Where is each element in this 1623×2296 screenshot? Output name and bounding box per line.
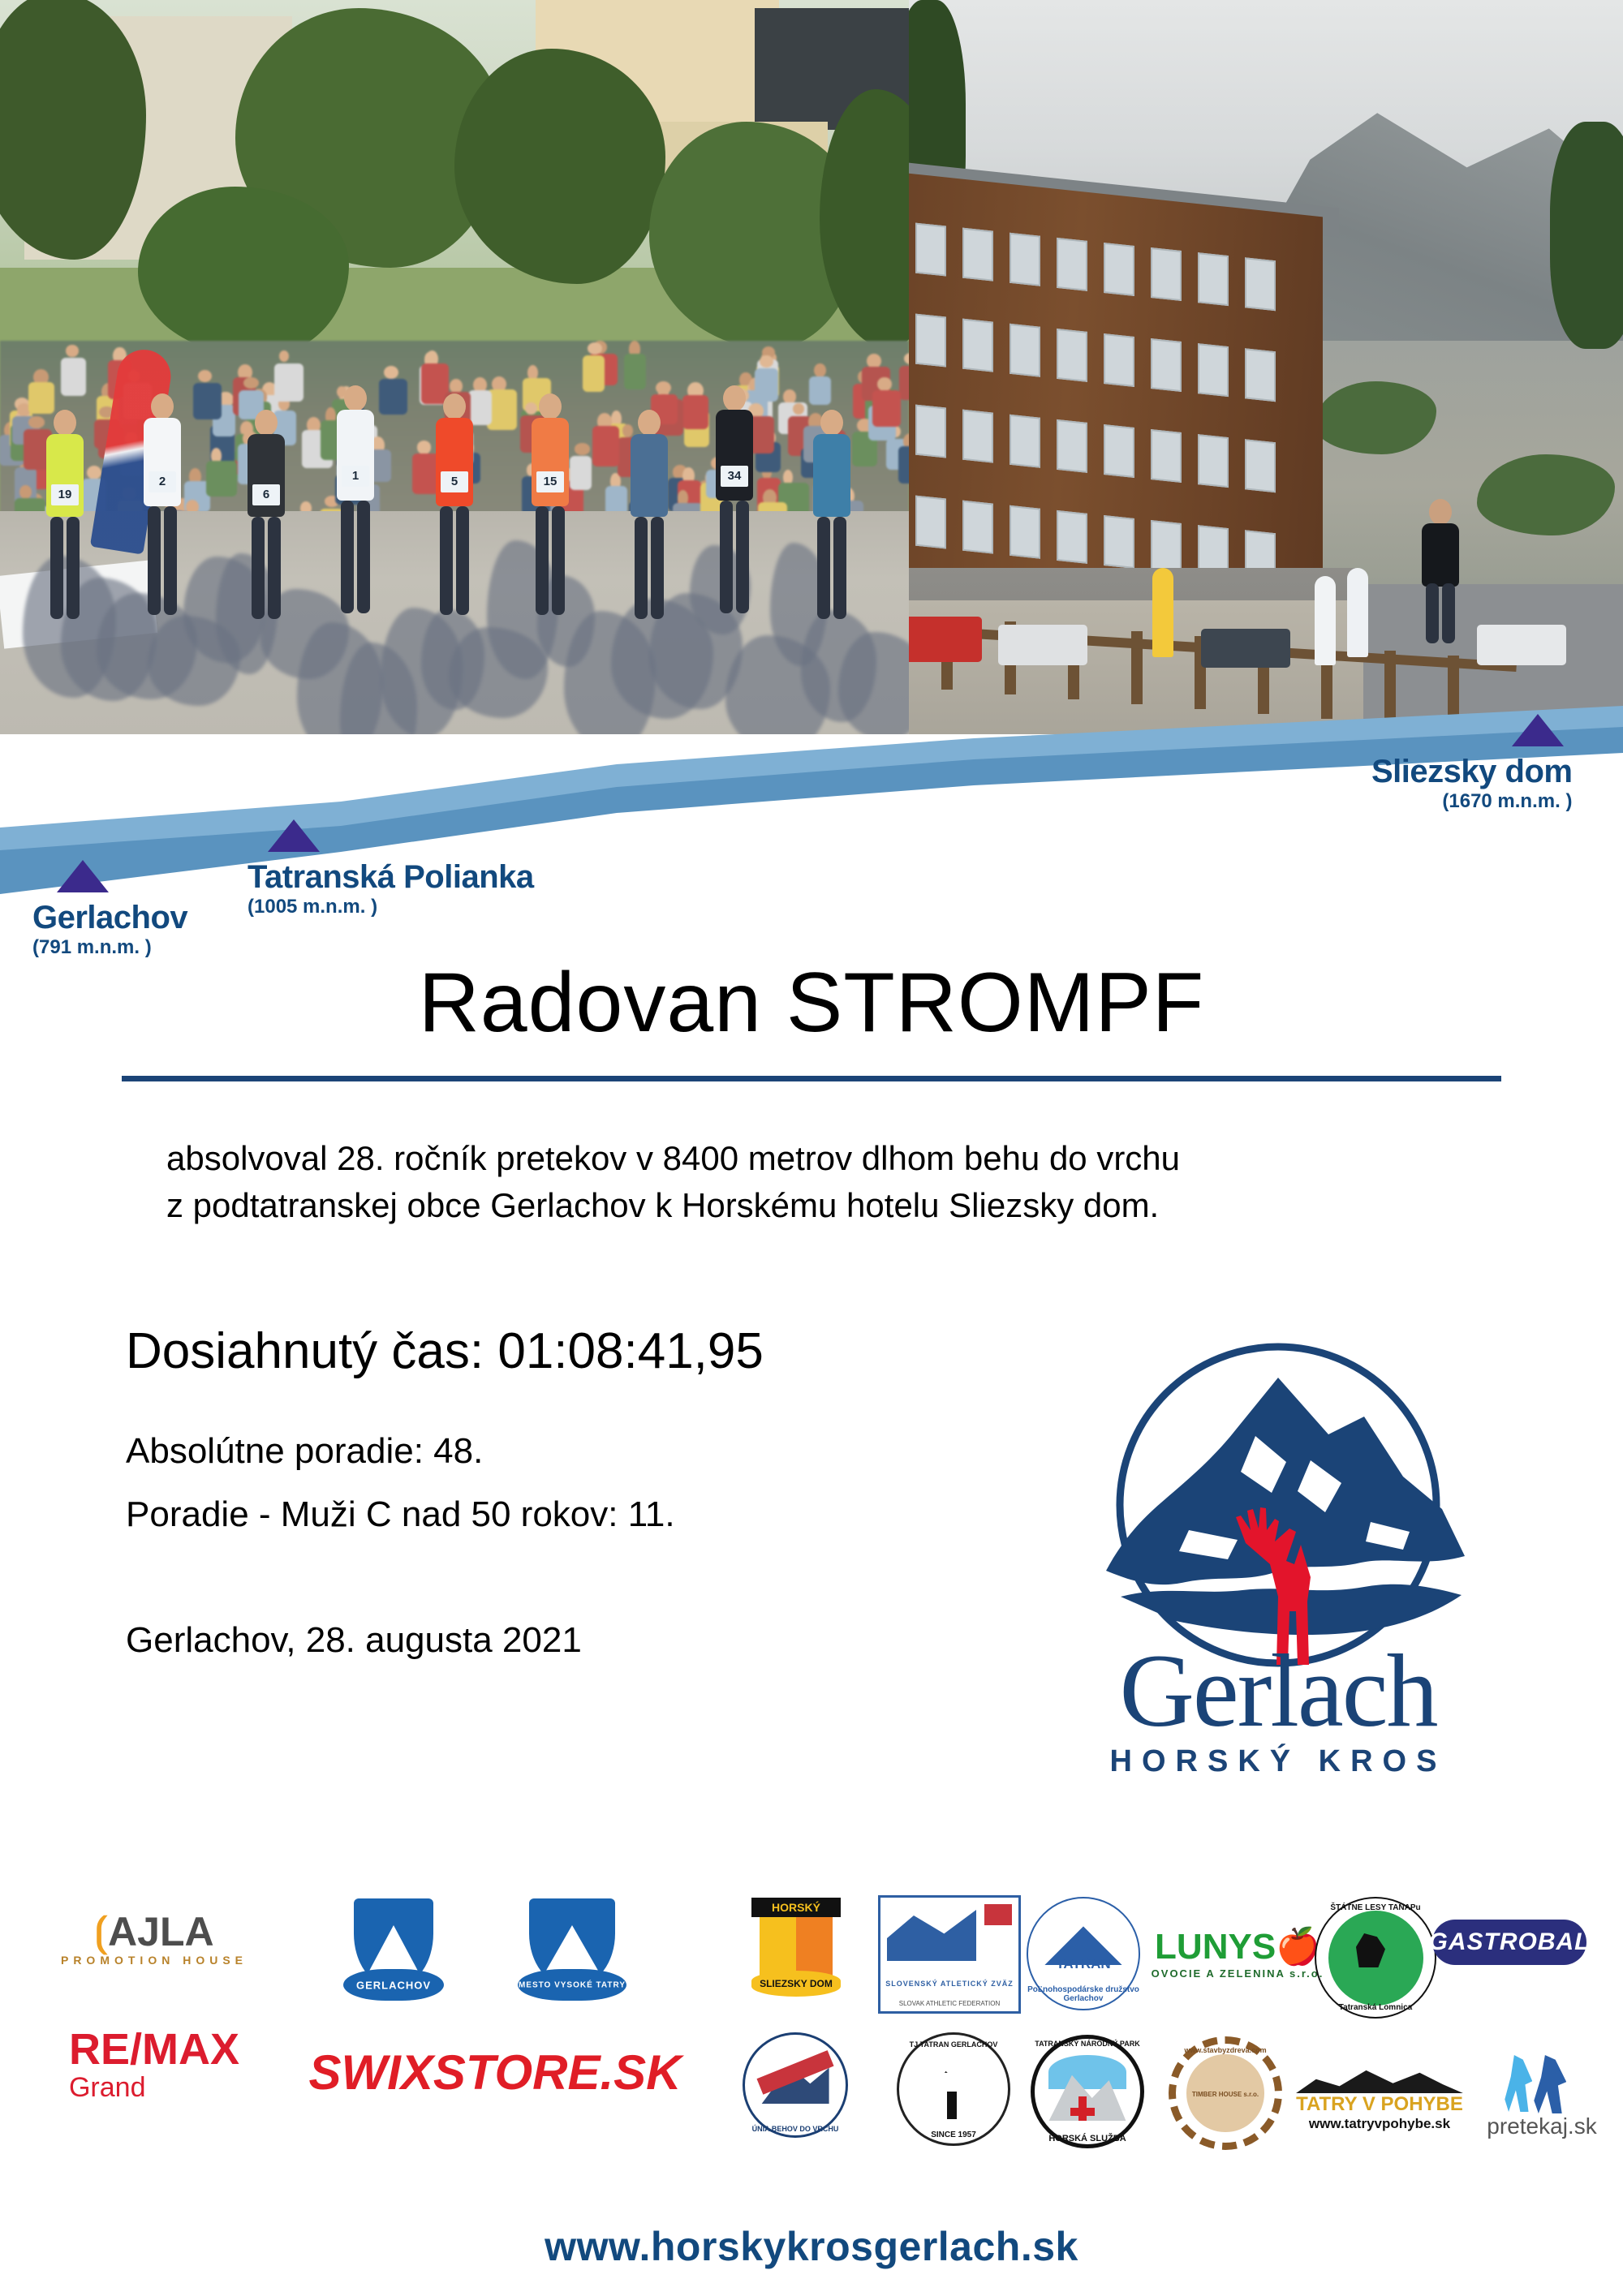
- runner: 19: [16, 410, 114, 653]
- hotel-window: [962, 319, 993, 372]
- sponsor-unia-name: ÚNIA BEHOV DO VRCHU: [743, 2125, 848, 2133]
- parked-car: [998, 625, 1087, 665]
- station-sliezsky-dom: Sliezsky dom (1670 m.n.m. ): [1371, 714, 1572, 813]
- sponsor-saz-tagline: SLOVAK ATHLETIC FEDERATION: [880, 1999, 1018, 2008]
- sponsor-tj-tatran-tagline: SINCE 1957: [897, 2130, 1010, 2139]
- sponsor-sliezsky-dom[interactable]: HORSKÝ HOTEL SLIEZSKY DOM: [734, 1894, 856, 2015]
- hotel-window: [1104, 243, 1134, 296]
- sponsor-slovensky-atleticky-zvaz[interactable]: SLOVENSKÝ ATLETICKÝ ZVÄZ SLOVAK ATHLETIC…: [876, 1894, 1022, 2015]
- hotel-window: [1151, 520, 1182, 574]
- sponsor-ajla[interactable]: ⟮AJLA PROMOTION HOUSE: [45, 1898, 264, 1980]
- hotel-window: [1057, 419, 1087, 473]
- parked-car: [1201, 629, 1290, 668]
- station-name: Sliezsky dom: [1371, 753, 1572, 790]
- sponsor-vysoke-tatry[interactable]: MESTO VYSOKÉ TATRY: [515, 1894, 629, 2015]
- runner: 5: [406, 393, 503, 653]
- runner: 1: [307, 385, 404, 653]
- mountain-marker-icon: [268, 819, 320, 852]
- sponsor-swixstore-name: SWIXSTORE.SK: [309, 2047, 682, 2099]
- sponsor-statne-lesy-tanapu[interactable]: ŠTÁTNE LESY TANAPu Tatranská Lomnica: [1315, 1897, 1436, 2019]
- athlete-name: Radovan STROMPF: [0, 957, 1623, 1048]
- event-flag: [1152, 568, 1173, 657]
- photo-race-start: 19 2 6 1 5 15: [0, 0, 909, 734]
- header-photo-band: 19 2 6 1 5 15: [0, 0, 1623, 734]
- hotel-window: [915, 314, 946, 368]
- hotel-window: [1104, 424, 1134, 478]
- sponsor-tanapu-tagline: Tatranská Lomnica: [1315, 2003, 1436, 2012]
- station-tatranska-polianka: Tatranská Polianka (1005 m.n.m. ): [248, 819, 534, 918]
- runner-on-path: [1416, 499, 1465, 653]
- sponsor-lunys-tagline: OVOCIE A ZELENINA s.r.o.: [1152, 1967, 1324, 1981]
- logo-wordmark: Gerlach: [1043, 1639, 1513, 1743]
- runner: 6: [217, 410, 315, 653]
- hotel-window: [1151, 338, 1182, 392]
- hotel-window: [1198, 343, 1229, 397]
- hotel-window: [1010, 505, 1040, 559]
- crest-ribbon: MESTO VYSOKÉ TATRY: [518, 1969, 626, 2001]
- runner: [783, 410, 880, 653]
- hotel-window: [962, 228, 993, 282]
- sponsor-ajla-name: AJLA: [108, 1909, 214, 1954]
- mountain-marker-icon: [57, 860, 109, 892]
- sponsor-pd-tatran-gerlachov[interactable]: TATRAN PoĽnohospodárske družstvo Gerlach…: [1027, 1897, 1140, 2010]
- crest-ribbon: GERLACHOV: [343, 1969, 445, 2001]
- hotel-window: [915, 223, 946, 277]
- logo-subtitle: HORSKÝ KROS: [1043, 1744, 1513, 1779]
- sponsor-pd-tatran-name: TATRAN: [1027, 1956, 1140, 1972]
- mountain-marker-icon: [1512, 714, 1564, 746]
- station-altitude: (1670 m.n.m. ): [1371, 790, 1572, 813]
- sponsor-gerlachov-crest[interactable]: GERLACHOV: [341, 1894, 446, 2015]
- sponsor-horska-sluzba[interactable]: TATRANSKÝ NÁRODNÝ PARK HORSKÁ SLUŽBA: [1031, 2035, 1144, 2148]
- intro-paragraph: absolvoval 28. ročník pretekov v 8400 me…: [166, 1135, 1432, 1229]
- sponsor-sliezsky-tagline: HORSKÝ HOTEL: [751, 1898, 841, 1917]
- station-gerlachov: Gerlachov (791 m.n.m. ): [32, 860, 187, 959]
- sponsor-tj-tatran-gerlachov[interactable]: TJ TATRAN GERLACHOV SINCE 1957: [897, 2032, 1010, 2146]
- runner: 2: [114, 393, 211, 653]
- runner: [601, 410, 698, 653]
- sponsor-tatry-name: TATRY V POHYBE: [1296, 2093, 1463, 2116]
- hotel-window: [1057, 329, 1087, 382]
- station-altitude: (791 m.n.m. ): [32, 936, 187, 959]
- sponsor-ajla-tagline: PROMOTION HOUSE: [61, 1953, 248, 1967]
- parked-car: [1477, 625, 1566, 665]
- hotel-window: [1104, 333, 1134, 387]
- sponsor-sliezsky-name: SLIEZSKY DOM: [751, 1971, 841, 1997]
- sponsor-pretekaj-name: pretekaj.sk: [1487, 2113, 1596, 2139]
- runner: 15: [502, 393, 599, 653]
- title-divider: [122, 1076, 1501, 1081]
- sponsor-stavby-tagline: TIMBER HOUSE s.r.o.: [1169, 2091, 1282, 2098]
- sponsor-tatry-v-pohybe[interactable]: TATRY V POHYBE www.tatryvpohybe.sk: [1282, 2044, 1477, 2142]
- hotel-window: [1198, 434, 1229, 488]
- hotel-window: [1057, 238, 1087, 291]
- hotel-window: [1010, 415, 1040, 468]
- sponsor-unia-behov[interactable]: ÚNIA BEHOV DO VRCHU: [743, 2032, 848, 2138]
- station-name: Gerlachov: [32, 899, 187, 936]
- hotel-window: [1010, 324, 1040, 377]
- sponsor-remax-name: RE/MAX: [69, 2025, 239, 2074]
- hotel-window: [962, 410, 993, 463]
- sponsor-gastrobal[interactable]: GASTROBAL: [1428, 1910, 1591, 1975]
- gerlach-horsky-kros-logo: Gerlach HORSKÝ KROS: [1043, 1339, 1513, 1817]
- sponsor-tj-tatran-name: TJ TATRAN GERLACHOV: [897, 2040, 1010, 2049]
- hotel-window: [1245, 257, 1276, 311]
- hotel-window: [1198, 252, 1229, 306]
- sponsor-saz-name: SLOVENSKÝ ATLETICKÝ ZVÄZ: [880, 1979, 1018, 1989]
- sponsor-vysoke-tatry-name: MESTO VYSOKÉ TATRY: [518, 1980, 626, 1989]
- sponsor-pretekaj[interactable]: pretekaj.sk: [1477, 2044, 1607, 2150]
- hotel-window: [962, 501, 993, 554]
- sponsor-horska-sluzba-name: HORSKÁ SLUŽBA: [1031, 2134, 1144, 2143]
- website-url[interactable]: www.horskykrosgerlach.sk: [0, 2223, 1623, 2270]
- parked-van: [909, 617, 982, 662]
- sponsor-swixstore[interactable]: SWIXSTORE.SK: [316, 2036, 674, 2109]
- event-flag: [1315, 576, 1336, 665]
- station-altitude: (1005 m.n.m. ): [248, 896, 534, 918]
- hotel-window: [1010, 233, 1040, 286]
- sponsor-pd-tatran-tagline: PoĽnohospodárske družstvo Gerlachov: [1027, 1985, 1140, 2003]
- hotel-window: [1104, 515, 1134, 569]
- sponsor-lunys-name: LUNYS: [1155, 1927, 1276, 1967]
- hotel-window: [1151, 247, 1182, 301]
- sponsor-stavby-name: www.stavbyzdreva.com: [1169, 2046, 1282, 2054]
- sponsor-remax-grand[interactable]: RE/MAX Grand: [45, 2020, 264, 2109]
- sponsor-gerlachov-name: GERLACHOV: [343, 1979, 445, 1991]
- hotel-window: [1245, 348, 1276, 402]
- intro-line-1: absolvoval 28. ročník pretekov v 8400 me…: [166, 1135, 1432, 1182]
- intro-line-2: z podtatranskej obce Gerlachov k Horském…: [166, 1182, 1432, 1229]
- hotel-window: [1057, 510, 1087, 564]
- runner: 34: [686, 385, 783, 653]
- sponsor-tatry-tagline: www.tatryvpohybe.sk: [1296, 2116, 1463, 2132]
- tree: [138, 187, 349, 357]
- sponsor-stavby-z-dreva[interactable]: www.stavbyzdreva.com TIMBER HOUSE s.r.o.: [1169, 2036, 1282, 2150]
- event-flag: [1347, 568, 1368, 657]
- sponsor-horska-sluzba-tagline: TATRANSKÝ NÁRODNÝ PARK: [1031, 2040, 1144, 2048]
- hotel-window: [1245, 439, 1276, 492]
- hotel-window: [915, 496, 946, 549]
- sponsor-remax-tagline: Grand: [69, 2072, 239, 2103]
- sponsor-strip: ⟮AJLA PROMOTION HOUSE RE/MAX Grand GERLA…: [0, 1890, 1623, 2215]
- logo-mountain-circle-icon: [1043, 1339, 1513, 1679]
- sponsor-gastrobal-name: GASTROBAL: [1429, 1929, 1591, 1955]
- photo-sliezsky-dom: [909, 0, 1623, 734]
- station-name: Tatranská Polianka: [248, 858, 534, 896]
- hotel-window: [915, 405, 946, 458]
- conifer: [1550, 122, 1623, 349]
- hotel-window: [1151, 429, 1182, 483]
- sponsor-tanapu-name: ŠTÁTNE LESY TANAPu: [1315, 1903, 1436, 1912]
- sponsor-lunys[interactable]: LUNYS🍎 OVOCIE A ZELENINA s.r.o.: [1160, 1902, 1315, 2007]
